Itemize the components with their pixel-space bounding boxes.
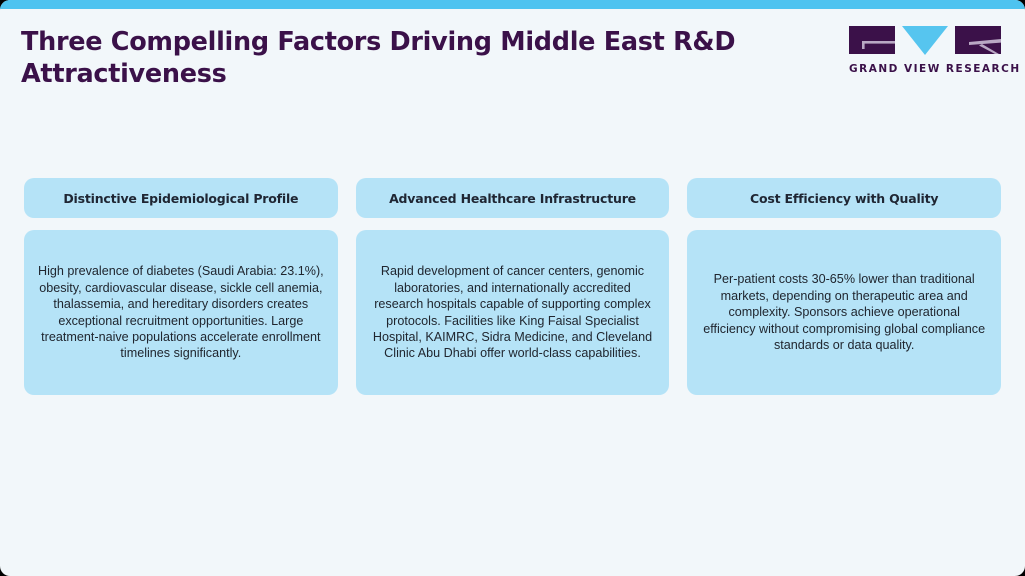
factor-card-body: Rapid development of cancer centers, gen…	[356, 230, 670, 395]
grand-view-research-logo: GRAND VIEW RESEARCH	[849, 25, 1001, 87]
factor-cards-row: Distinctive Epidemiological Profile High…	[24, 178, 1001, 395]
factor-card-header: Advanced Healthcare Infrastructure	[356, 178, 670, 218]
factor-card-description: High prevalence of diabetes (Saudi Arabi…	[38, 263, 324, 361]
factor-card-title: Cost Efficiency with Quality	[750, 191, 938, 206]
top-accent-bar	[0, 0, 1025, 9]
factor-card: Distinctive Epidemiological Profile High…	[24, 178, 338, 395]
factor-card-body: Per-patient costs 30-65% lower than trad…	[687, 230, 1001, 395]
factor-card-title: Distinctive Epidemiological Profile	[63, 191, 298, 206]
factor-card-body: High prevalence of diabetes (Saudi Arabi…	[24, 230, 338, 395]
page-title: Three Compelling Factors Driving Middle …	[21, 26, 761, 90]
logo-marks	[849, 25, 1001, 57]
factor-card-title: Advanced Healthcare Infrastructure	[389, 191, 636, 206]
slide-header: Three Compelling Factors Driving Middle …	[0, 9, 1025, 109]
logo-glyphs-icon	[849, 25, 1001, 57]
factor-card-header: Cost Efficiency with Quality	[687, 178, 1001, 218]
factor-card-description: Rapid development of cancer centers, gen…	[370, 263, 656, 361]
factor-card: Cost Efficiency with Quality Per-patient…	[687, 178, 1001, 395]
factor-card-header: Distinctive Epidemiological Profile	[24, 178, 338, 218]
slide-canvas: Three Compelling Factors Driving Middle …	[0, 0, 1025, 576]
factor-card-description: Per-patient costs 30-65% lower than trad…	[701, 271, 987, 353]
factor-card: Advanced Healthcare Infrastructure Rapid…	[356, 178, 670, 395]
logo-wordmark: GRAND VIEW RESEARCH	[849, 63, 1001, 75]
